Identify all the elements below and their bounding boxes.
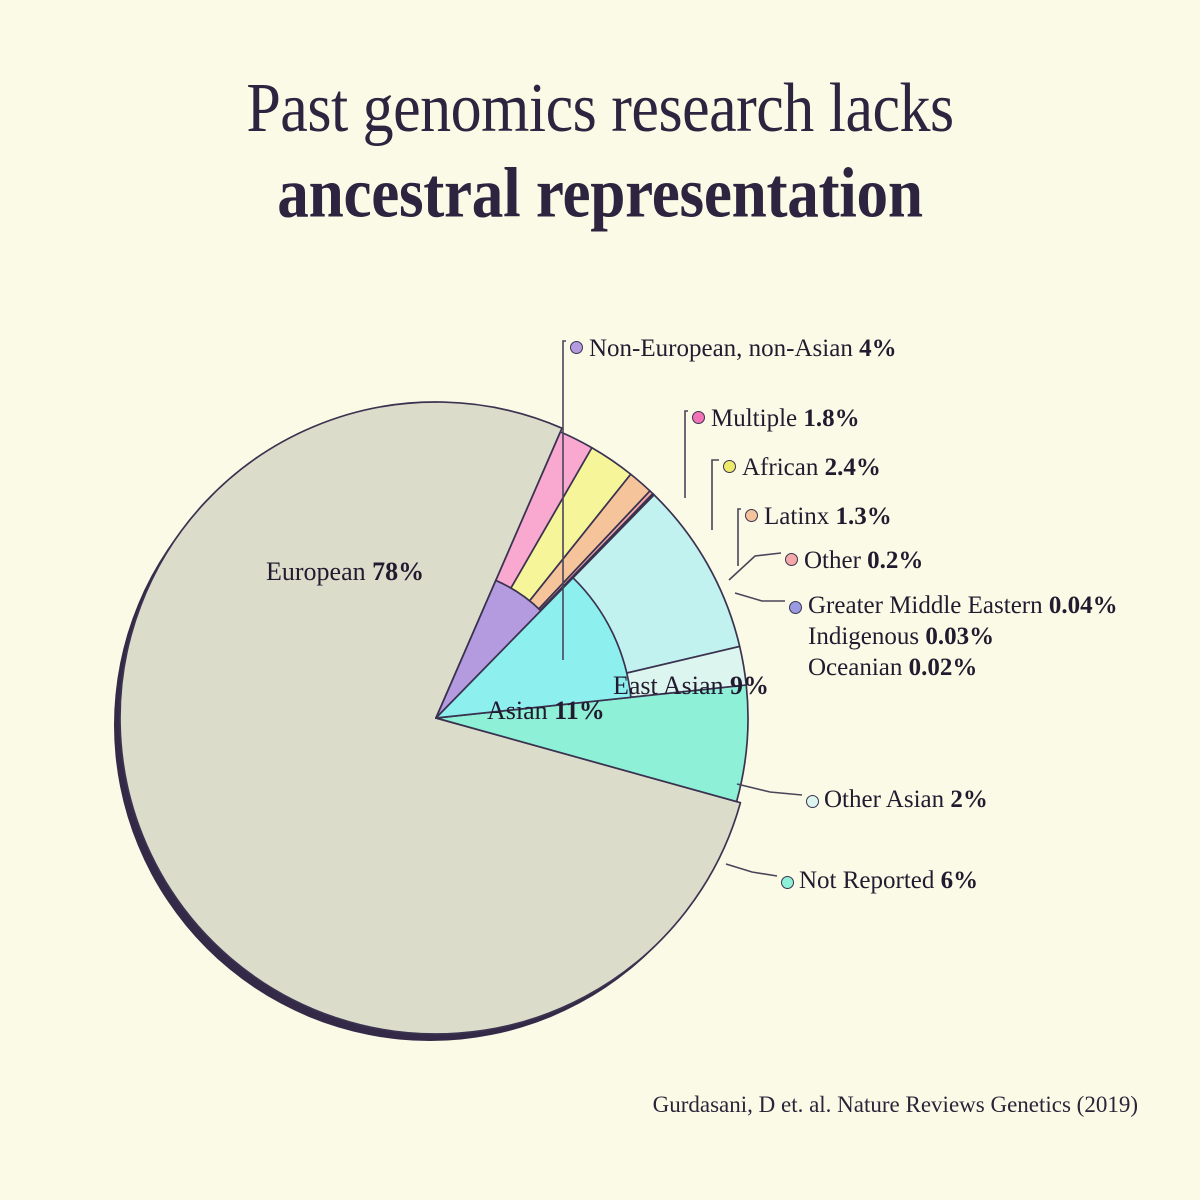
legend-dot-non-european-non-asian[interactable] (570, 341, 583, 354)
callout-label-other-asian[interactable]: Other Asian 2% (824, 785, 988, 815)
label-percent: 0.03% (925, 623, 994, 650)
label-percent: 1.8% (803, 405, 859, 432)
source-attribution: Gurdasani, D et. al. Nature Reviews Gene… (653, 1092, 1138, 1118)
label-text: Other (804, 547, 867, 574)
label-text: Non-European, non-Asian (589, 335, 859, 362)
label-text: African (742, 454, 825, 481)
pie-label-european: European 78% (266, 557, 424, 587)
label-text: Not Reported (799, 867, 941, 894)
label-percent: 6% (941, 867, 979, 894)
label-percent: 78% (372, 557, 424, 586)
legend-dot-other[interactable] (785, 553, 798, 566)
callout-label-latinx[interactable]: Latinx 1.3% (764, 502, 892, 532)
legend-dot-not-reported[interactable] (781, 876, 794, 889)
callout-label-indigenous: Indigenous 0.03% (808, 622, 994, 652)
label-text: East Asian (613, 671, 730, 700)
pie-label-asian: Asian 11% (487, 696, 605, 726)
legend-dot-african[interactable] (723, 460, 736, 473)
legend-dot-multiple[interactable] (692, 411, 705, 424)
label-percent: 9% (730, 671, 769, 700)
label-text: Indigenous (808, 623, 925, 650)
label-text: Greater Middle Eastern (808, 592, 1049, 619)
legend-dot-other-asian[interactable] (806, 795, 819, 808)
label-percent: 4% (859, 335, 897, 362)
label-text: Other Asian (824, 786, 950, 813)
label-text: European (266, 557, 372, 586)
callout-label-other[interactable]: Other 0.2% (804, 546, 923, 576)
label-text: Latinx (764, 503, 836, 530)
callout-label-african[interactable]: African 2.4% (742, 453, 881, 483)
callout-label-oceanian: Oceanian 0.02% (808, 653, 977, 683)
label-text: Oceanian (808, 654, 909, 681)
infographic-canvas: Past genomics research lacks ancestral r… (0, 0, 1200, 1200)
label-percent: 1.3% (836, 503, 892, 530)
pie-slices (120, 402, 748, 1034)
label-percent: 0.2% (867, 547, 923, 574)
label-percent: 0.04% (1049, 592, 1118, 619)
label-text: Asian (487, 696, 554, 725)
label-text: Multiple (711, 405, 803, 432)
callout-label-greater-middle-eastern[interactable]: Greater Middle Eastern 0.04% (808, 591, 1118, 621)
label-percent: 2.4% (825, 454, 881, 481)
label-percent: 2% (950, 786, 988, 813)
label-percent: 0.02% (909, 654, 978, 681)
callout-label-multiple[interactable]: Multiple 1.8% (711, 404, 860, 434)
legend-dot-greater-middle-eastern[interactable] (789, 601, 802, 614)
pie-label-east-asian: East Asian 9% (613, 671, 769, 701)
callout-label-not-reported[interactable]: Not Reported 6% (799, 866, 978, 896)
callout-label-non-european-non-asian[interactable]: Non-European, non-Asian 4% (589, 334, 897, 364)
legend-dot-latinx[interactable] (745, 509, 758, 522)
label-percent: 11% (554, 696, 605, 725)
